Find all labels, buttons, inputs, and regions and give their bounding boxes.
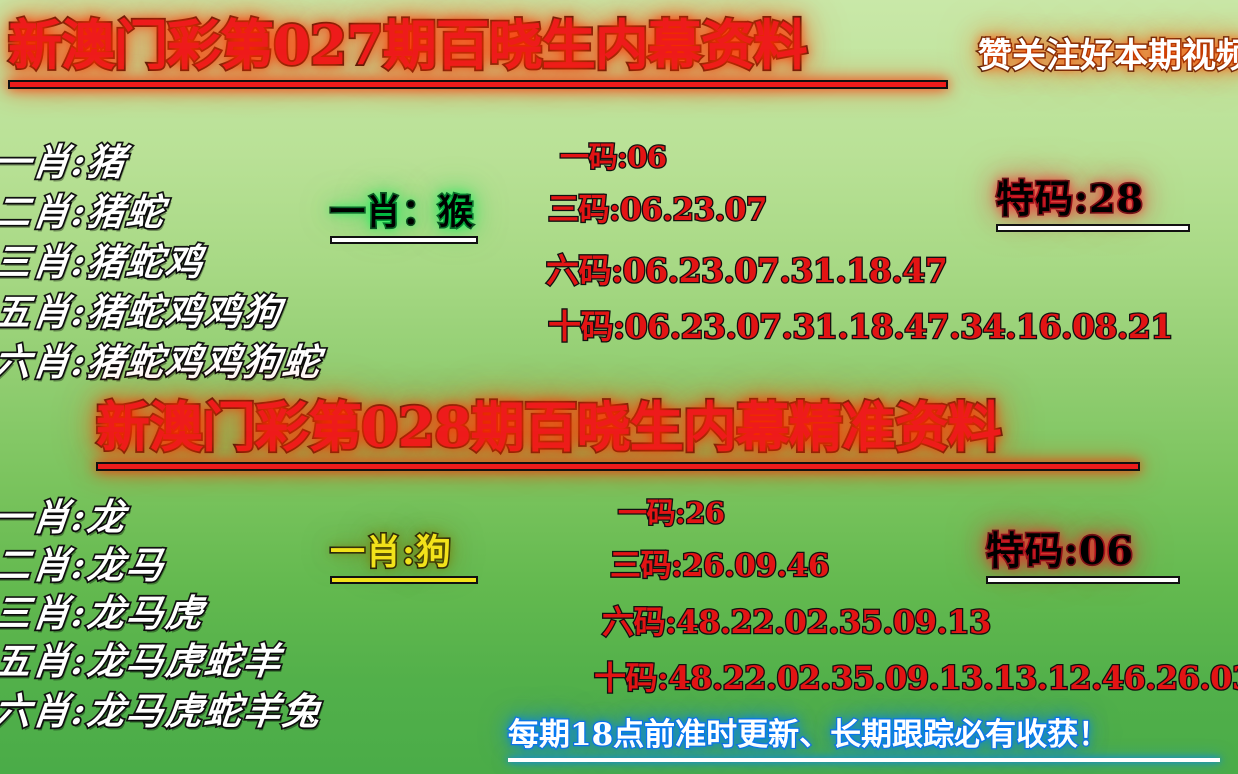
code-row-028-1-label: 一码: <box>618 496 685 530</box>
special-028-label: 特码:06 <box>986 528 1134 574</box>
code-row-027-2-value: 06.23.07 <box>620 192 767 228</box>
zodiac-line-028-3: 三肖:龙马虎 <box>0 583 208 637</box>
footer-banner-text: 每期18点前准时更新、长期跟踪必有收获！ <box>508 716 1109 754</box>
code-row-028-3-value: 48.22.02.35.09.13 <box>676 603 990 641</box>
code-row-028-1-value: 26 <box>685 496 724 530</box>
section-027-title-underline <box>8 80 948 89</box>
code-row-028-3: 六码:48.22.02.35.09.13 <box>602 604 991 641</box>
code-row-028-4-value: 48.22.02.35.09.13.13.12.46.26.03 <box>668 659 1238 697</box>
code-row-028-2-value: 26.09.46 <box>682 548 829 584</box>
zodiac-line-028-2: 二肖:龙马 <box>0 535 169 589</box>
special-027-label: 特码:28 <box>996 176 1144 222</box>
code-row-027-3-value: 06.23.07.31.18.47 <box>623 251 947 290</box>
zodiac-line-028-1: 一肖:龙 <box>0 487 130 541</box>
section-028-title: 新澳门彩第028期百晓生内幕精准资料 <box>96 396 1001 458</box>
code-row-027-1-label: 一码: <box>560 140 627 174</box>
section-028-title-group: 新澳门彩第028期百晓生内幕精准资料 <box>96 396 1140 468</box>
code-row-028-4: 十码:48.22.02.35.09.13.13.12.46.26.03 <box>594 660 1238 697</box>
code-row-027-2: 三码:06.23.07 <box>548 192 767 228</box>
zodiac-line-027-5: 五肖:猪蛇鸡鸡狗 <box>0 282 286 336</box>
footer-banner-group: 每期18点前准时更新、长期跟踪必有收获！ <box>508 716 1224 768</box>
special-028-group: 特码:06 <box>986 528 1184 594</box>
zodiac-line-027-1: 一肖:猪 <box>0 132 130 186</box>
pick-028-group: 一肖:狗 <box>330 532 482 596</box>
code-row-028-3-label: 六码: <box>602 603 676 641</box>
lottery-poster: 新澳门彩第027期百晓生内幕资料 赞关注好本期视频 一肖:猪 二肖:猪蛇 三肖:… <box>0 0 1238 774</box>
section-027-title-group: 新澳门彩第027期百晓生内幕资料 <box>8 14 948 86</box>
code-row-027-4-label: 十码: <box>548 307 625 346</box>
code-row-027-3-label: 六码: <box>546 251 623 290</box>
special-027-group: 特码:28 <box>996 176 1194 242</box>
code-row-028-2-label: 三码: <box>610 548 682 584</box>
zodiac-line-027-3: 三肖:猪蛇鸡 <box>0 232 208 286</box>
code-row-027-1-value: 06 <box>627 140 666 174</box>
promo-follow-text: 赞关注好本期视频 <box>978 36 1238 76</box>
zodiac-line-027-2: 二肖:猪蛇 <box>0 182 169 236</box>
special-027-underline <box>996 224 1190 232</box>
pick-027-group: 一肖：猴 <box>330 192 482 256</box>
code-row-028-2: 三码:26.09.46 <box>610 548 829 584</box>
footer-banner-underline <box>508 758 1220 762</box>
code-row-027-1: 一码:06 <box>560 140 667 174</box>
pick-027-underline <box>330 236 478 244</box>
code-row-027-2-label: 三码: <box>548 192 620 228</box>
zodiac-line-027-6: 六肖:猪蛇鸡鸡狗蛇 <box>0 332 325 386</box>
code-row-028-1: 一码:26 <box>618 496 725 530</box>
zodiac-line-028-6: 六肖:龙马虎蛇羊兔 <box>0 681 325 735</box>
special-028-underline <box>986 576 1180 584</box>
code-row-027-4-value: 06.23.07.31.18.47.34.16.08.21 <box>625 307 1173 346</box>
code-row-027-4: 十码:06.23.07.31.18.47.34.16.08.21 <box>548 308 1173 346</box>
zodiac-line-028-5: 五肖:龙马虎蛇羊 <box>0 631 286 685</box>
section-027-title: 新澳门彩第027期百晓生内幕资料 <box>8 14 807 76</box>
code-row-027-3: 六码:06.23.07.31.18.47 <box>546 252 947 290</box>
pick-027-label: 一肖：猴 <box>330 192 474 234</box>
section-028-title-underline <box>96 462 1140 471</box>
pick-028-underline <box>330 576 478 584</box>
code-row-028-4-label: 十码: <box>594 659 668 697</box>
pick-028-label: 一肖:狗 <box>330 532 452 574</box>
